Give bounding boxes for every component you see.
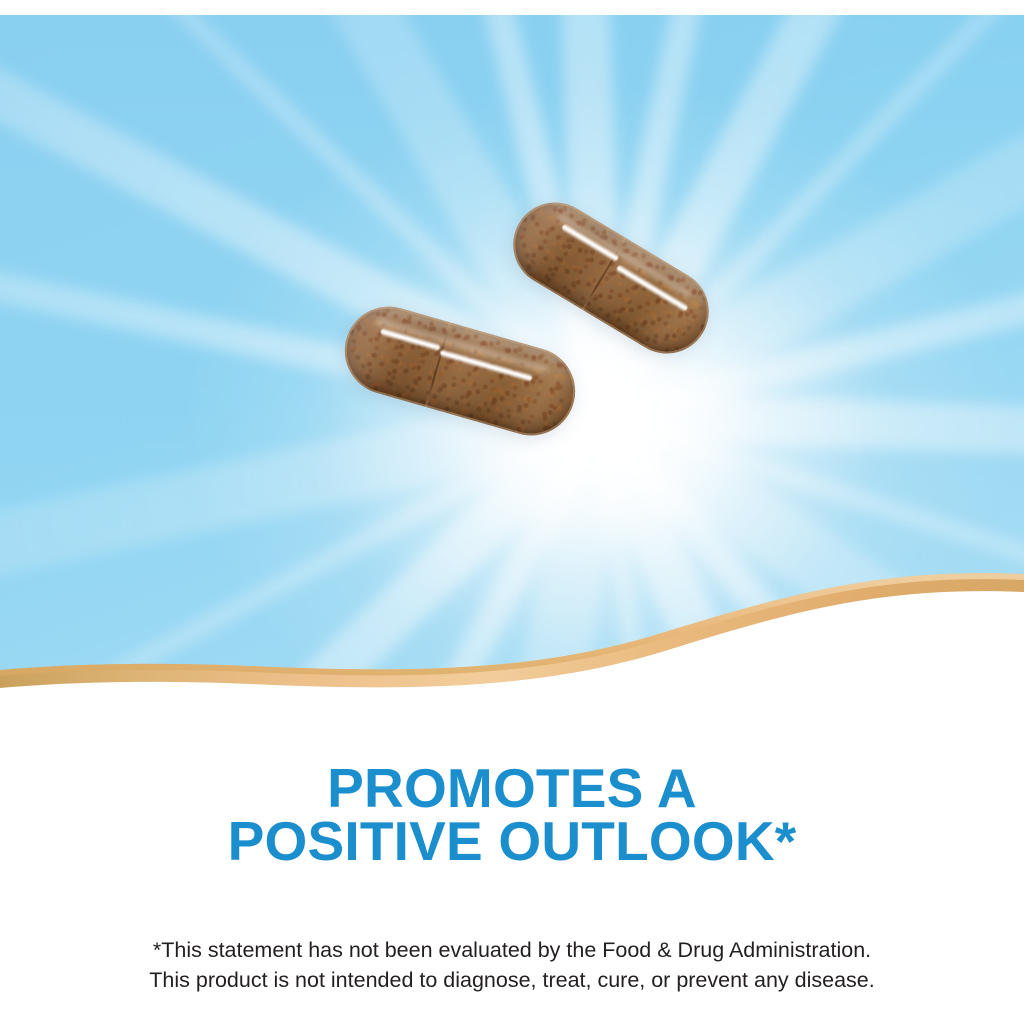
headline-line-2: POSITIVE OUTLOOK* (0, 815, 1024, 868)
capsule-upper (498, 187, 725, 369)
sunburst-ray (594, 15, 1024, 421)
top-white-margin (0, 0, 1024, 15)
sunburst-ray (584, 15, 1024, 443)
sunburst-ray (599, 391, 1024, 491)
capsule-lower (334, 296, 585, 446)
disclaimer-line-1: *This statement has not been evaluated b… (0, 935, 1024, 965)
headline: PROMOTES A POSITIVE OUTLOOK* (0, 762, 1024, 868)
sunburst-ray (579, 15, 1024, 426)
disclaimer-line-2: This product is not intended to diagnose… (0, 965, 1024, 995)
fda-disclaimer: *This statement has not been evaluated b… (0, 935, 1024, 995)
headline-line-1: PROMOTES A (0, 762, 1024, 815)
sunburst-ray (596, 38, 1024, 430)
product-benefit-poster: PROMOTES A POSITIVE OUTLOOK* *This state… (0, 0, 1024, 1024)
sunburst-ray (585, 15, 926, 418)
message-panel: PROMOTES A POSITIVE OUTLOOK* *This state… (0, 690, 1024, 1024)
gold-wave-divider (0, 540, 1024, 720)
